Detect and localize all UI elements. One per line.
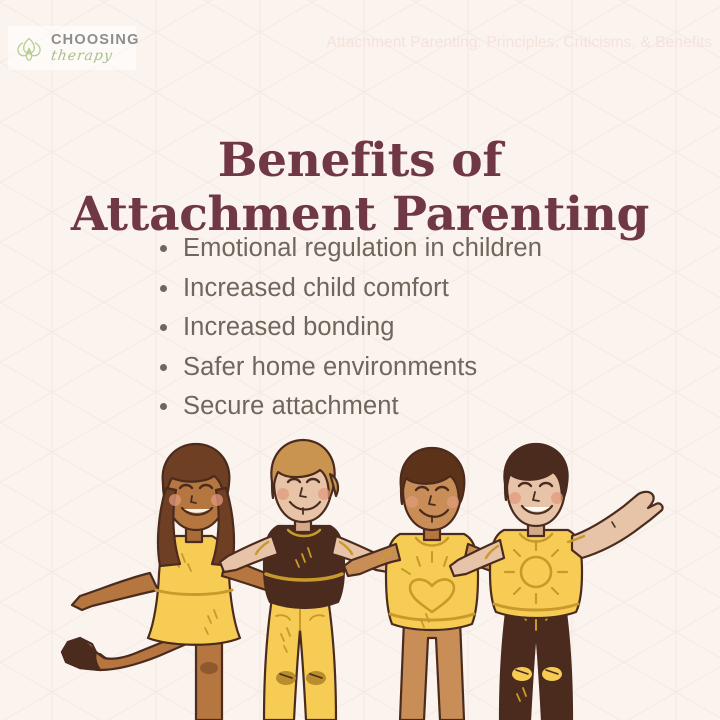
brand-word: CHOOSING <box>51 33 140 48</box>
brand-logo[interactable]: CHOOSING therapy <box>8 26 136 70</box>
header-caption: Attachment Parenting: Principles, Critic… <box>327 34 713 52</box>
child-girl-long-hair <box>62 444 288 720</box>
list-item: Increased child comfort <box>160 269 542 309</box>
brand-logo-text: CHOOSING therapy <box>51 33 140 63</box>
list-item: Secure attachment <box>160 387 542 427</box>
poster-canvas: CHOOSING therapy Attachment Parenting: P… <box>0 0 720 720</box>
list-item: Emotional regulation in children <box>160 229 542 269</box>
bullet-dot-icon <box>160 285 167 292</box>
brand-script: therapy <box>50 49 141 63</box>
benefit-label: Safer home environments <box>183 353 477 382</box>
lotus-leaf-icon <box>12 31 46 65</box>
list-item: Increased bonding <box>160 308 542 348</box>
bullet-dot-icon <box>160 403 167 410</box>
benefit-label: Secure attachment <box>183 392 399 421</box>
page-title-line-1: Benefits of <box>0 134 720 188</box>
children-illustration <box>0 438 720 720</box>
list-item: Safer home environments <box>160 348 542 388</box>
benefits-list: Emotional regulation in children Increas… <box>160 229 542 427</box>
page-title: Benefits of Attachment Parenting <box>0 134 720 242</box>
bullet-dot-icon <box>160 245 167 252</box>
benefit-label: Increased bonding <box>183 313 395 342</box>
bullet-dot-icon <box>160 324 167 331</box>
child-boy-waving <box>450 444 663 720</box>
benefit-label: Emotional regulation in children <box>183 234 542 263</box>
bullet-dot-icon <box>160 364 167 371</box>
benefit-label: Increased child comfort <box>183 274 449 303</box>
